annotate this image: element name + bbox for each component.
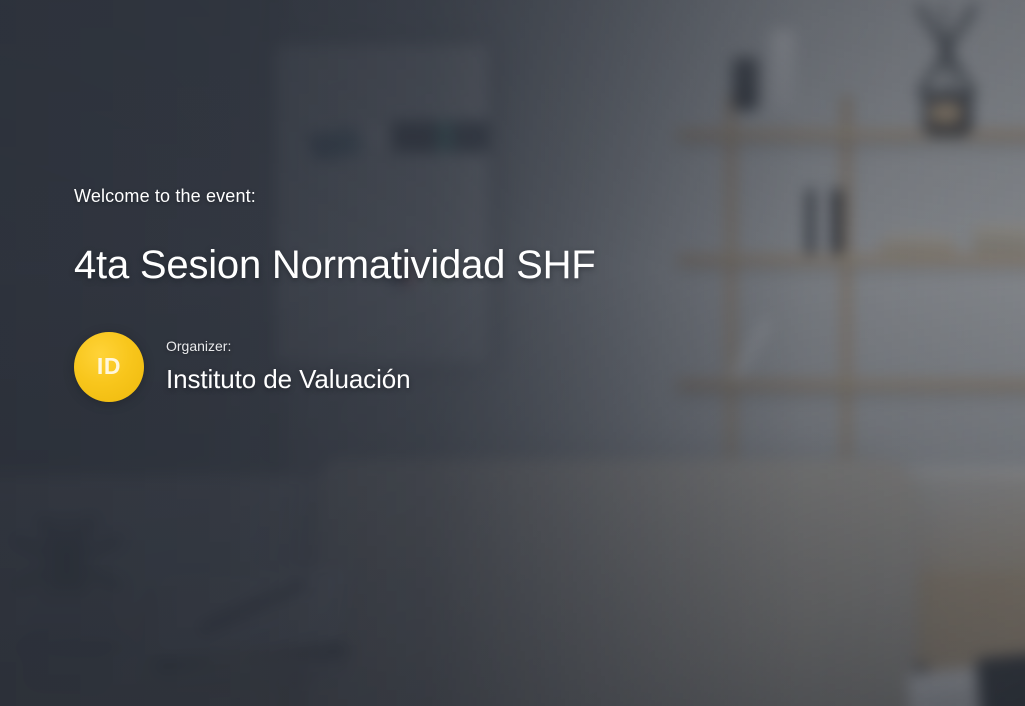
organizer-block: ID Organizer: Instituto de Valuación — [74, 332, 774, 402]
organizer-label: Organizer: — [166, 338, 410, 356]
welcome-label: Welcome to the event: — [74, 186, 774, 208]
organizer-name: Instituto de Valuación — [166, 365, 410, 395]
avatar-initials: ID — [97, 353, 121, 380]
organizer-text: Organizer: Instituto de Valuación — [166, 338, 410, 394]
page-title: 4ta Sesion Normatividad SHF — [74, 242, 774, 288]
event-welcome-banner: Welcome to the event: 4ta Sesion Normati… — [0, 0, 1025, 706]
hero-content: Welcome to the event: 4ta Sesion Normati… — [74, 186, 774, 402]
avatar: ID — [74, 332, 144, 402]
